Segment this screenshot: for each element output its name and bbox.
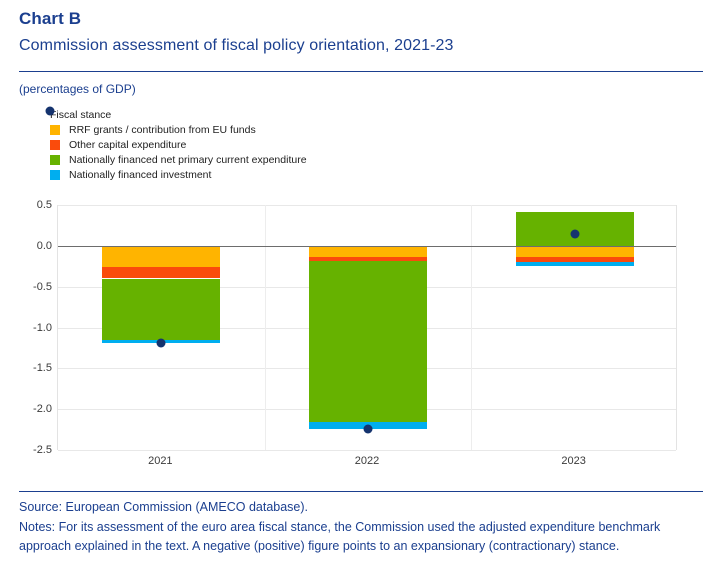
footer-divider [19, 491, 703, 492]
y-axis-tick-label: -0.5 [6, 281, 52, 293]
legend-item-label: RRF grants / contribution from EU funds [69, 124, 256, 136]
chart-legend: Fiscal stanceRRF grants / contribution f… [50, 108, 307, 183]
legend-item-label: Nationally financed net primary current … [69, 154, 307, 166]
plot-area [57, 205, 677, 450]
gridline [58, 450, 676, 451]
page-title: Commission assessment of fiscal policy o… [19, 34, 703, 58]
x-axis-tick-label: 2021 [100, 455, 220, 467]
bar-segment[interactable] [516, 262, 634, 266]
bar-segment[interactable] [309, 246, 427, 257]
legend-swatch-icon [50, 170, 60, 180]
bar-segment[interactable] [102, 279, 220, 340]
bar-segment[interactable] [516, 246, 634, 257]
legend-swatch-icon [50, 125, 60, 135]
category-separator [265, 205, 266, 450]
legend-item-label: Fiscal stance [50, 109, 111, 121]
x-axis-tick-label: 2022 [307, 455, 427, 467]
header-divider [19, 71, 703, 72]
y-axis-tick-label: 0.5 [6, 199, 52, 211]
legend-swatch-icon [46, 106, 55, 115]
legend-item[interactable]: RRF grants / contribution from EU funds [50, 123, 307, 137]
chart-footnotes: Source: European Commission (AMECO datab… [19, 498, 707, 557]
legend-item[interactable]: Nationally financed investment [50, 168, 307, 182]
chart-label: Chart B [19, 8, 703, 30]
legend-item[interactable]: Nationally financed net primary current … [50, 153, 307, 167]
legend-item-label: Other capital expenditure [69, 139, 186, 151]
y-axis-tick-label: -1.5 [6, 362, 52, 374]
legend-item-label: Nationally financed investment [69, 169, 211, 181]
y-axis-tick-label: 0.0 [6, 240, 52, 252]
category-separator [471, 205, 472, 450]
fiscal-stance-marker[interactable] [157, 339, 166, 348]
bar-group[interactable] [102, 205, 220, 450]
legend-item[interactable]: Other capital expenditure [50, 138, 307, 152]
bar-group[interactable] [516, 205, 634, 450]
legend-swatch-icon [50, 140, 60, 150]
legend-swatch-icon [50, 155, 60, 165]
chart-header: Chart B Commission assessment of fiscal … [19, 8, 703, 58]
chart-page: Chart B Commission assessment of fiscal … [0, 0, 722, 581]
y-axis-tick-label: -2.0 [6, 403, 52, 415]
fiscal-stance-marker[interactable] [570, 229, 579, 238]
notes-text: Notes: For its assessment of the euro ar… [19, 518, 707, 557]
x-axis-tick-label: 2023 [514, 455, 634, 467]
y-axis-tick-label: -2.5 [6, 444, 52, 456]
bar-segment[interactable] [309, 261, 427, 423]
fiscal-stance-marker[interactable] [364, 424, 373, 433]
legend-item[interactable]: Fiscal stance [50, 108, 307, 122]
bar-group[interactable] [309, 205, 427, 450]
zero-axis-line [58, 246, 676, 247]
bar-segment[interactable] [102, 267, 220, 278]
units-label: (percentages of GDP) [19, 82, 136, 96]
bar-segment[interactable] [102, 246, 220, 267]
y-axis-tick-label: -1.0 [6, 322, 52, 334]
y-axis-labels: 0.50.0-0.5-1.0-1.5-2.0-2.5 [0, 205, 52, 450]
source-text: Source: European Commission (AMECO datab… [19, 498, 707, 518]
